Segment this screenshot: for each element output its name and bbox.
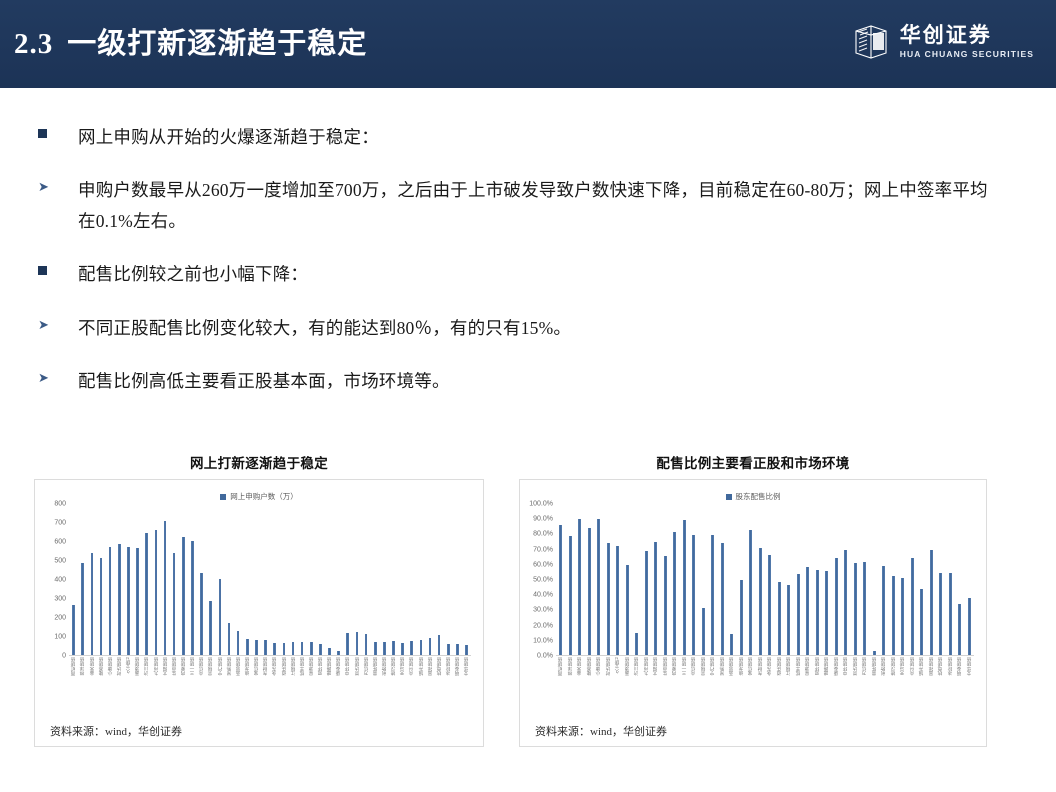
x-axis-tick: 旭升转债 [917, 657, 927, 719]
x-axis-tick: 盛路转债 [822, 657, 832, 719]
bar [118, 544, 121, 655]
bullet-list: 网上申购从开始的火爆逐渐趋于稳定： ➤ 申购户数最早从260万一度增加至700万… [38, 122, 998, 419]
bar-slot [87, 503, 96, 655]
bar [392, 641, 395, 655]
bar-slot [261, 503, 270, 655]
x-axis-tick: 富祥转债 [425, 657, 434, 719]
bar [702, 608, 705, 655]
chart-panel-placement-ratio: 配售比例主要看正股和市场环境 股东配售比例 0.0%10.0%20.0%30.0… [519, 452, 987, 747]
bar-slot [651, 503, 661, 655]
x-axis-tick: 星源转债 [307, 657, 316, 719]
x-axis-tick: 济川转债 [632, 657, 642, 719]
x-axis-tick: 利欧转债 [879, 657, 889, 719]
bar-slot [889, 503, 899, 655]
x-axis-tick: 景旺转债 [870, 657, 880, 719]
bar-slot [270, 503, 279, 655]
x-axis-tick-label: 天马转债 [400, 657, 405, 675]
x-axis-tick-label: 辉丰转债 [796, 657, 801, 675]
x-axis-tick-label: 众信转债 [691, 657, 696, 675]
x-axis-tick: 江银转债 [288, 657, 297, 719]
x-axis-tick: 宝信转债 [746, 657, 756, 719]
x-axis-tick: 隆基转债 [585, 657, 595, 719]
x-axis-tick-label: 宁行转债 [710, 657, 715, 675]
bar-slot [96, 503, 105, 655]
x-axis-tick-label: 星源转债 [309, 657, 314, 675]
bar [901, 578, 904, 655]
x-axis-tick: 崇达转债 [352, 657, 361, 719]
page-title: 2.3一级打新逐渐趋于稳定 [14, 20, 367, 62]
x-axis-tick: 中环转债 [841, 657, 851, 719]
x-axis-tick-label: 万信转债 [862, 657, 867, 675]
x-axis-tick-label: 太阳转债 [653, 657, 658, 675]
x-axis-tick: 迪龙转债 [243, 657, 252, 719]
y-axis-tick: 200 [54, 615, 66, 622]
bar-slot [398, 503, 407, 655]
bar [892, 576, 895, 655]
x-axis-tick-label: 盛路转债 [824, 657, 829, 675]
bar [255, 640, 258, 655]
bar-slot [334, 503, 343, 655]
x-axis-tick-label: 中环转债 [345, 657, 350, 675]
bar-slot [765, 503, 775, 655]
bar-slot [575, 503, 585, 655]
bar [958, 604, 961, 655]
bar-slot [670, 503, 680, 655]
x-axis-tick: 内蒙转债 [670, 657, 680, 719]
bar-slot [955, 503, 965, 655]
bar-slot [689, 503, 699, 655]
bullet-marker-arrow-icon: ➤ [38, 313, 78, 332]
bar-slot [851, 503, 861, 655]
bar-slot [234, 503, 243, 655]
bullet-text: 配售比例高低主要看正股基本面，市场环境等。 [78, 366, 450, 397]
x-axis-tick-label: 江银转债 [786, 657, 791, 675]
x-axis-tick-label: 嘉澳转债 [135, 657, 140, 675]
x-axis-tick: 永东转债 [765, 657, 775, 719]
bar-slot [927, 503, 937, 655]
x-axis-tick: 内蒙转债 [179, 657, 188, 719]
bar [273, 643, 276, 655]
bar [683, 520, 686, 655]
bar [219, 579, 222, 655]
x-axis-tick: 旭升转债 [416, 657, 425, 719]
bar-slot [453, 503, 462, 655]
bar-slot [870, 503, 880, 655]
x-axis-tick: 雨虹转债 [69, 657, 78, 719]
x-axis-tick: 辉丰转债 [298, 657, 307, 719]
legend-color-swatch [220, 494, 226, 500]
x-axis-tick-label: 小康转债 [596, 657, 601, 675]
bullet-text: 配售比例较之前也小幅下降： [78, 259, 308, 290]
x-axis-tick-label: 三一转债 [190, 657, 195, 675]
bar [374, 642, 377, 655]
x-axis-tick-label: 盛路转债 [327, 657, 332, 675]
bar [787, 585, 790, 655]
bar-slot [841, 503, 851, 655]
bar [654, 542, 657, 655]
x-axis-tick: 辉丰转债 [794, 657, 804, 719]
bar-slot [352, 503, 361, 655]
bar [264, 640, 267, 655]
x-axis-tick-label: 众兴转债 [910, 657, 915, 675]
bar-slot [803, 503, 813, 655]
bar [949, 573, 952, 655]
x-axis-tick: 双环转债 [813, 657, 823, 719]
plot-area [69, 504, 471, 656]
bar [246, 639, 249, 655]
bar-slot [371, 503, 380, 655]
bar-slot [708, 503, 718, 655]
bar [711, 535, 714, 655]
bar [319, 644, 322, 655]
bar [588, 528, 591, 655]
bar-slot [188, 503, 197, 655]
bar-slot [288, 503, 297, 655]
x-axis-tick: 常熟转债 [718, 657, 728, 719]
bullet-marker-arrow-icon: ➤ [38, 175, 78, 194]
bar [692, 535, 695, 655]
x-axis-tick: 林洋转债 [566, 657, 576, 719]
x-axis-tick-label: 富祥转债 [929, 657, 934, 675]
bar [356, 632, 359, 655]
bar [854, 563, 857, 655]
bar [173, 553, 176, 655]
section-number: 2.3 [14, 28, 53, 60]
x-axis-tick-label: 时达转债 [117, 657, 122, 675]
bar-slot [917, 503, 927, 655]
bullet-marker-square [38, 122, 78, 140]
x-axis-tick: 永东转债 [270, 657, 279, 719]
bar [673, 532, 676, 655]
bar-slot [252, 503, 261, 655]
bar-slot [746, 503, 756, 655]
x-axis-tick: 利欧转债 [380, 657, 389, 719]
bar [401, 643, 404, 655]
bar [740, 580, 743, 655]
x-axis-tick-label: 东财转债 [758, 657, 763, 675]
bar [645, 551, 648, 655]
x-axis-tick: 九州转债 [642, 657, 652, 719]
x-axis-tick-label: 景旺转债 [872, 657, 877, 675]
bar [616, 546, 619, 655]
x-axis-tick-label: 九州转债 [644, 657, 649, 675]
x-axis-tick: 三一转债 [680, 657, 690, 719]
bar-slot [316, 503, 325, 655]
bar [721, 543, 724, 655]
bar-slot [784, 503, 794, 655]
x-axis-tick: 嘉澳转债 [133, 657, 142, 719]
y-axis-tick: 100.0% [529, 501, 553, 508]
x-axis-tick: 康泰转债 [832, 657, 842, 719]
bar [301, 642, 304, 655]
bar-slot [623, 503, 633, 655]
bar [429, 638, 432, 655]
bar-slot [879, 503, 889, 655]
bar-slot [908, 503, 918, 655]
bar [346, 633, 349, 655]
bar-slot [756, 503, 766, 655]
x-axis-tick: 江银转债 [784, 657, 794, 719]
bar [939, 573, 942, 655]
bar-slot [632, 503, 642, 655]
x-axis-tick: 艾华转债 [965, 657, 975, 719]
bar [569, 536, 572, 655]
bar-slot [325, 503, 334, 655]
x-axis-tick: 冰轮转债 [946, 657, 956, 719]
x-axis-tick: 金禾转债 [575, 657, 585, 719]
bar [626, 565, 629, 655]
x-axis-tick-label: 中环转债 [843, 657, 848, 675]
x-axis-tick-label: 明泰转债 [455, 657, 460, 675]
x-axis-tick: 万信转债 [860, 657, 870, 719]
bar-slot [224, 503, 233, 655]
bar-slot [243, 503, 252, 655]
brand-name-en: HUA CHUANG SECURITIES [900, 49, 1034, 59]
bar [825, 571, 828, 655]
brand-name-cn: 华创证券 [900, 25, 992, 47]
bar [778, 582, 781, 655]
bar [447, 644, 450, 655]
x-axis-tick-label: 天马转债 [900, 657, 905, 675]
bar [607, 543, 610, 655]
x-axis-tick: 万信转债 [362, 657, 371, 719]
bar [410, 641, 413, 655]
x-axis-tick-label: 宝信转债 [748, 657, 753, 675]
bar [191, 541, 194, 655]
x-axis-tick-label: 辉丰转债 [300, 657, 305, 675]
y-axis: 0.0%10.0%20.0%30.0%40.0%50.0%60.0%70.0%8… [520, 504, 556, 656]
bar-slot [425, 503, 434, 655]
bar [228, 623, 231, 655]
bar [127, 547, 130, 655]
bar-slot [462, 503, 471, 655]
bullet-marker-square [38, 259, 78, 277]
x-axis-tick: 天马转债 [398, 657, 407, 719]
y-axis-tick: 90.0% [533, 516, 553, 523]
bar-slot [215, 503, 224, 655]
bar [237, 631, 240, 655]
x-axis-tick: 宁行转债 [708, 657, 718, 719]
bullet-text: 不同正股配售比例变化较大，有的能达到80％，有的只有15%。 [78, 313, 571, 344]
bar-slot [936, 503, 946, 655]
x-axis-tick: 小康转债 [106, 657, 115, 719]
x-axis-tick-label: 宁行转债 [218, 657, 223, 675]
bar-slot [197, 503, 206, 655]
x-axis-tick-label: 隆基转债 [99, 657, 104, 675]
x-axis-tick-label: 艾华转债 [967, 657, 972, 675]
x-axis-tick: 众信转债 [197, 657, 206, 719]
bar [730, 634, 733, 655]
chart-title: 配售比例主要看正股和市场环境 [519, 452, 987, 472]
x-axis-tick: 久立转2 [613, 657, 623, 719]
x-axis-tick-label: 吴银转债 [208, 657, 213, 675]
x-axis-tick: 三一转债 [188, 657, 197, 719]
bar [749, 530, 752, 655]
x-axis-tick: 明泰转债 [453, 657, 462, 719]
x-axis-tick: 隆基转债 [96, 657, 105, 719]
x-axis-tick: 吴银转债 [699, 657, 709, 719]
x-axis-tick: 宁行转债 [215, 657, 224, 719]
bar [109, 547, 112, 655]
y-axis: 0100200300400500600700800 [35, 504, 69, 656]
x-axis-tick-label: 嘉澳转债 [625, 657, 630, 675]
bar-slot [444, 503, 453, 655]
bar [456, 644, 459, 655]
x-axis-tick: 双环转债 [316, 657, 325, 719]
x-axis-tick-label: 九州转债 [154, 657, 159, 675]
y-axis-tick: 30.0% [533, 607, 553, 614]
bar-slot [151, 503, 160, 655]
bar-slot [898, 503, 908, 655]
chart-title: 网上打新逐渐趋于稳定 [34, 452, 484, 472]
x-axis-tick: 康泰转债 [334, 657, 343, 719]
bar-slot [813, 503, 823, 655]
bar [365, 634, 368, 655]
y-axis-tick: 500 [54, 558, 66, 565]
bar-slot [794, 503, 804, 655]
x-axis-tick: 冰轮转债 [444, 657, 453, 719]
x-axis-tick-label: 双环转债 [815, 657, 820, 675]
x-axis-tick-label: 旭升转债 [919, 657, 924, 675]
x-axis-tick: 久立转2 [124, 657, 133, 719]
x-axis-tick-label: 内蒙转债 [672, 657, 677, 675]
x-axis-tick-label: 常熟转债 [227, 657, 232, 675]
y-axis-tick: 20.0% [533, 622, 553, 629]
bar [209, 601, 212, 655]
x-axis-tick: 蓝思转债 [727, 657, 737, 719]
hua-chuang-book-icon [851, 22, 891, 62]
x-axis-tick: 盛路转债 [325, 657, 334, 719]
x-axis-tick-label: 利欧转债 [881, 657, 886, 675]
y-axis-tick: 700 [54, 520, 66, 527]
bar-series [69, 503, 471, 655]
slide-header: 2.3一级打新逐渐趋于稳定 华创证券 HUA CHUANG SECURITIES [0, 0, 1056, 88]
legend-color-swatch [726, 494, 732, 500]
x-axis-tick: 小康转债 [594, 657, 604, 719]
y-axis-tick: 300 [54, 596, 66, 603]
bullet-item-4: ➤ 配售比例高低主要看正股基本面，市场环境等。 [38, 366, 998, 397]
bar [635, 633, 638, 655]
bar [882, 566, 885, 655]
x-axis-tick: 蓝思转债 [234, 657, 243, 719]
x-axis-tick-label: 康泰转债 [336, 657, 341, 675]
bar [383, 642, 386, 655]
x-axis-tick-label: 杭电转债 [938, 657, 943, 675]
chart-legend: 股东配售比例 [520, 480, 986, 504]
x-axis-tick-label: 众兴转债 [409, 657, 414, 675]
bar [797, 574, 800, 655]
x-axis-tick-label: 富祥转债 [428, 657, 433, 675]
brand-logo: 华创证券 HUA CHUANG SECURITIES [851, 22, 1034, 62]
y-axis-tick: 50.0% [533, 577, 553, 584]
x-axis-tick: 道氏转债 [775, 657, 785, 719]
x-axis-tick-label: 崇达转债 [853, 657, 858, 675]
x-axis-tick: 杭电转债 [435, 657, 444, 719]
bar [164, 521, 167, 655]
bar [578, 519, 581, 655]
bullet-item-0: 网上申购从开始的火爆逐渐趋于稳定： [38, 122, 998, 153]
section-title: 一级打新逐渐趋于稳定 [67, 28, 367, 60]
x-axis-tick-label: 江银转债 [291, 657, 296, 675]
bar-slot [737, 503, 747, 655]
bullet-item-1: ➤ 申购户数最早从260万一度增加至700万，之后由于上市破发导致户数快速下降，… [38, 175, 998, 237]
x-axis-tick-label: 铁汉转债 [891, 657, 896, 675]
x-axis-tick-label: 铁汉转债 [391, 657, 396, 675]
x-axis-tick: 景旺转债 [371, 657, 380, 719]
bar-slot [594, 503, 604, 655]
bar [155, 530, 158, 655]
x-axis-tick-label: 星源转债 [805, 657, 810, 675]
x-axis-tick-label: 蓝思转债 [729, 657, 734, 675]
x-axis-tick: 太阳转债 [651, 657, 661, 719]
x-axis-tick: 嘉澳转债 [623, 657, 633, 719]
bar [145, 533, 148, 655]
bar-slot [613, 503, 623, 655]
bar [182, 537, 185, 655]
bar [310, 642, 313, 655]
bar-slot [389, 503, 398, 655]
bar-slot [946, 503, 956, 655]
bar-slot [727, 503, 737, 655]
bar [559, 525, 562, 655]
x-axis-tick: 众兴转债 [908, 657, 918, 719]
x-axis-tick-label: 杭电转债 [437, 657, 442, 675]
y-axis-tick: 0.0% [537, 653, 553, 660]
bullet-item-2: 配售比例较之前也小幅下降： [38, 259, 998, 290]
bar-slot [699, 503, 709, 655]
bar-slot [832, 503, 842, 655]
bar-slot [822, 503, 832, 655]
chart-legend: 网上申购户数（万） [35, 480, 483, 504]
bar-slot [115, 503, 124, 655]
x-axis-tick: 生益转债 [170, 657, 179, 719]
y-axis-tick: 60.0% [533, 561, 553, 568]
x-axis-tick-label: 利欧转债 [382, 657, 387, 675]
y-axis-tick: 400 [54, 577, 66, 584]
y-axis-tick: 0 [62, 653, 66, 660]
bar-slot [307, 503, 316, 655]
bar [81, 563, 84, 655]
x-axis-tick: 东财转债 [756, 657, 766, 719]
x-axis-tick-label: 金禾转债 [577, 657, 582, 675]
bar-slot [124, 503, 133, 655]
x-axis-tick: 九州转债 [151, 657, 160, 719]
legend-label: 网上申购户数（万） [230, 491, 298, 502]
bar [420, 640, 423, 655]
bar [292, 642, 295, 655]
x-axis-tick-label: 道氏转债 [282, 657, 287, 675]
x-axis-tick-label: 济川转债 [634, 657, 639, 675]
bar-slot [279, 503, 288, 655]
x-axis-tick: 时达转债 [604, 657, 614, 719]
bar [200, 573, 203, 655]
x-axis-tick-label: 旭升转债 [419, 657, 424, 675]
bar-slot [407, 503, 416, 655]
x-axis-tick-label: 永东转债 [272, 657, 277, 675]
x-axis-tick-label: 康泰转债 [834, 657, 839, 675]
bar [283, 643, 286, 655]
x-axis-tick: 东财转债 [261, 657, 270, 719]
x-axis-tick-label: 时达转债 [606, 657, 611, 675]
x-axis-tick-label: 久立转2 [615, 657, 620, 673]
x-axis-tick: 雨虹转债 [556, 657, 566, 719]
y-axis-tick: 600 [54, 539, 66, 546]
x-axis-tick-label: 崇达转债 [355, 657, 360, 675]
bullet-text: 网上申购从开始的火爆逐渐趋于稳定： [78, 122, 379, 153]
bar-slot [556, 503, 566, 655]
bar-slot [604, 503, 614, 655]
x-axis-tick: 迪龙转债 [737, 657, 747, 719]
